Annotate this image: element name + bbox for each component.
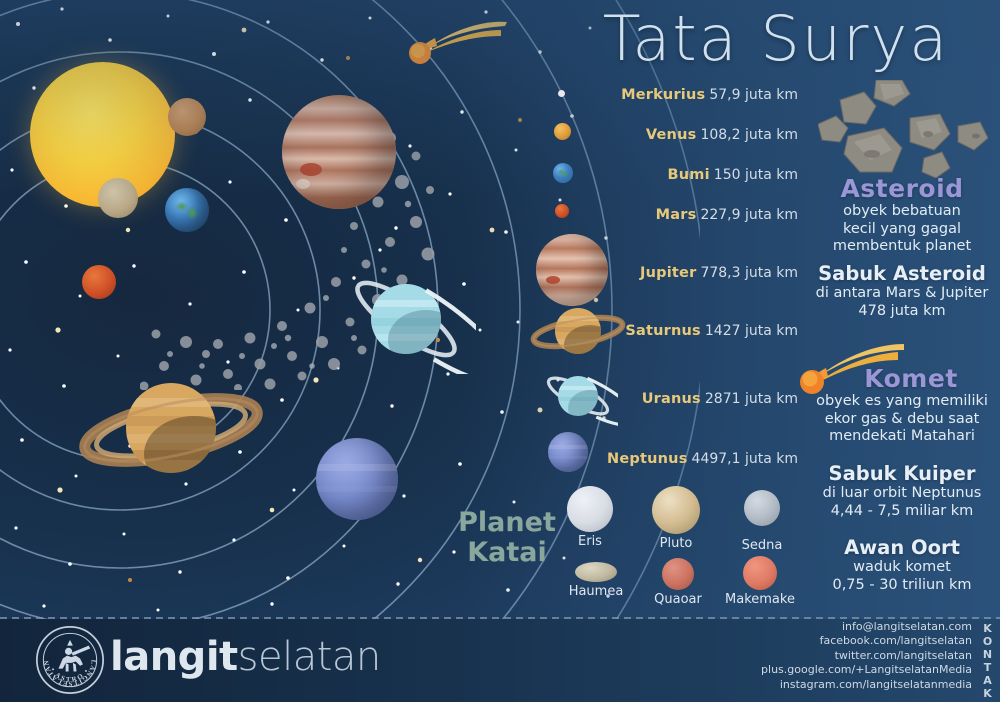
planet-name: Uranus [642,391,701,407]
scale-row-saturnus: Saturnus1427 juta km [625,322,798,340]
dwarf-heading-line-1: Planet [452,508,562,538]
planet-distance: 227,9 juta km [700,207,798,223]
awan-oort-heading: Awan Oort [806,536,998,559]
comet-icon [800,342,908,396]
planet-distance: 1427 juta km [705,323,798,339]
dwarf-label: Eris [560,534,620,549]
scale-row-venus: Venus108,2 juta km [646,126,798,144]
scale-body-jupiter [536,234,608,306]
awan-oort-line-1: waduk komet [806,559,998,577]
scale-body-bumi-land [557,167,569,179]
dwarf-item-quaoar: Quaoar [644,558,712,607]
scale-body-uranus [538,364,618,428]
infographic-poster: Tata Surya [0,0,1000,702]
sabuk-kuiper-line-2: 4,44 - 7,5 miliar km [806,503,998,521]
planet-name: Saturnus [625,323,701,339]
scale-row-uranus: Uranus2871 juta km [642,390,798,408]
neptune-graphic-left [316,438,398,520]
planet-scale-list: Merkurius57,9 juta km Venus108,2 juta km… [548,84,798,484]
scale-row-bumi: Bumi150 juta km [668,166,798,184]
sedna-graphic [744,490,780,526]
sabuk-asteroid-heading: Sabuk Asteroid [806,262,998,285]
page-title: Tata Surya [556,2,996,76]
scale-row-mars: Mars227,9 juta km [656,206,798,224]
dwarf-planets-grid: Eris Pluto Sedna Haumea Quaoar Makemake [560,486,790,611]
scale-body-saturnus [530,299,626,363]
komet-desc-line-3: mendekati Matahari [806,428,998,446]
eris-graphic [567,486,613,532]
contact-googleplus[interactable]: plus.google.com/+LangitselatanMedia [742,663,972,677]
komet-desc-line-2: ekor gas & debu saat [806,411,998,429]
planet-name: Venus [646,127,697,143]
venus-graphic [98,178,138,218]
contact-email[interactable]: info@langitselatan.com [742,620,972,634]
planet-distance: 778,3 juta km [700,265,798,281]
planet-distance: 150 juta km [714,167,798,183]
scale-row-jupiter: Jupiter778,3 juta km [640,264,798,282]
planet-distance: 57,9 juta km [709,87,798,103]
saturn-graphic-left [76,362,266,492]
asteroid-heading: Asteroid [806,174,998,203]
contact-twitter[interactable]: twitter.com/langitselatan [742,649,972,663]
planet-name: Mars [656,207,697,223]
makemake-graphic [743,556,777,590]
awan-oort-line-2: 0,75 - 30 triliun km [806,577,998,595]
dwarf-item-haumea: Haumea [560,562,632,599]
scale-body-merkurius [558,90,565,97]
footer-divider [0,617,1000,619]
dwarf-item-eris: Eris [560,486,620,549]
asteroid-desc-line-1: obyek bebatuan [806,203,998,221]
langitselatan-logo-icon: LANGITSELATAN • ASTRO • [34,624,106,696]
scale-body-neptunus [548,432,588,472]
dwarf-label: Quaoar [644,592,712,607]
dwarf-heading-line-2: Katai [452,538,562,568]
planet-name: Merkurius [621,87,705,103]
sabuk-asteroid-line-2: 478 juta km [806,303,998,321]
dwarf-label: Pluto [646,536,706,551]
brand-bold-part: langit [110,634,238,680]
dwarf-planets-heading: Planet Katai [452,508,562,568]
earth-continents [174,196,200,222]
quaoar-graphic [662,558,694,590]
mercury-graphic [168,98,206,136]
planet-distance: 2871 juta km [705,391,798,407]
contact-facebook[interactable]: facebook.com/langitselatan [742,634,972,648]
scale-row-merkurius: Merkurius57,9 juta km [621,86,798,104]
asteroid-cluster-icon [818,80,996,178]
asteroid-desc-line-3: membentuk planet [806,238,998,256]
dwarf-label: Haumea [560,584,632,599]
mars-graphic [82,265,116,299]
scale-body-venus [554,123,571,140]
planet-name: Neptunus [607,451,687,467]
pluto-graphic [652,486,700,534]
haumea-graphic [575,562,617,582]
kontak-vertical-label: KONTAK [980,622,996,700]
contact-instagram[interactable]: instagram.com/langitselatanmedia [742,678,972,692]
brand-light-part: selatan [238,634,381,680]
contact-list: info@langitselatan.com facebook.com/lang… [742,620,972,692]
dwarf-item-sedna: Sedna [732,490,792,553]
dwarf-label: Sedna [732,538,792,553]
sabuk-kuiper-heading: Sabuk Kuiper [806,462,998,485]
jupiter-graphic-left [282,95,396,209]
sabuk-asteroid-line-1: di antara Mars & Jupiter [806,285,998,303]
brand-wordmark: langitselatan [110,634,381,680]
sabuk-kuiper-line-1: di luar orbit Neptunus [806,485,998,503]
dwarf-item-pluto: Pluto [646,486,706,551]
scale-body-mars [555,204,569,218]
planet-name: Jupiter [640,265,696,281]
planet-distance: 108,2 juta km [700,127,798,143]
dwarf-item-makemake: Makemake [720,556,800,607]
comet-graphic-left [405,14,515,66]
uranus-graphic-left [336,264,476,374]
planet-distance: 4497,1 juta km [692,451,798,467]
dwarf-label: Makemake [720,592,800,607]
asteroid-desc-line-2: kecil yang gagal [806,221,998,239]
scale-row-neptunus: Neptunus4497,1 juta km [607,450,798,468]
planet-name: Bumi [668,167,710,183]
